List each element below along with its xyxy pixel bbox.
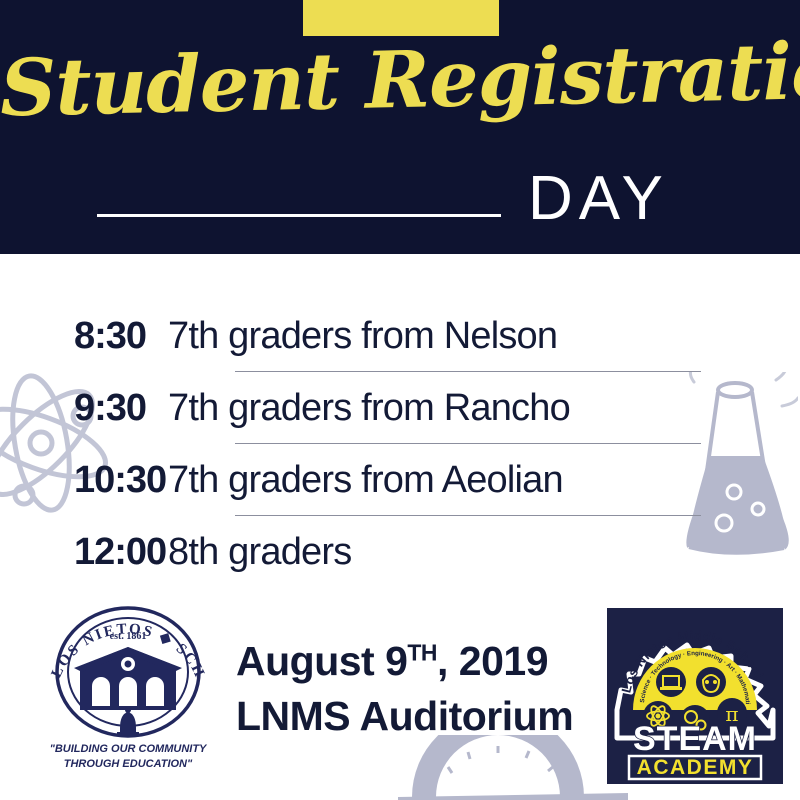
steam-academy-logo: Los Nietos Middle School Science · Techn… xyxy=(607,608,783,784)
page-title-day: DAY xyxy=(528,168,669,230)
seal-tagline-line2: THROUGH EDUCATION" xyxy=(36,757,220,772)
seal-established-text: est. 1861 xyxy=(110,631,147,642)
schedule-time: 9:30 xyxy=(0,387,168,430)
table-row: 8:30 7th graders from Nelson xyxy=(0,300,800,372)
schedule-description: 7th graders from Rancho xyxy=(168,387,570,430)
table-row: 10:30 7th graders from Aeolian xyxy=(0,444,800,516)
district-seal-logo: LOS NIETOS ◆ SCHOOL DISTRICT est. 1861 "… xyxy=(36,606,220,786)
header-yellow-tab xyxy=(303,0,499,36)
page-title: Student Registration xyxy=(0,34,800,129)
schedule-time: 12:00 xyxy=(0,531,168,574)
steam-wordmark: STEAM xyxy=(633,720,757,758)
seal-tagline-line1: "BUILDING OUR COMMUNITY xyxy=(36,742,220,757)
event-date-ordinal: TH xyxy=(407,639,437,665)
schedule-description: 7th graders from Aeolian xyxy=(168,459,563,502)
event-details: August 9TH, 2019 LNMS Auditorium xyxy=(236,634,573,743)
table-row: 9:30 7th graders from Rancho xyxy=(0,372,800,444)
event-location: LNMS Auditorium xyxy=(236,689,573,744)
event-date: August 9TH, 2019 xyxy=(236,634,573,689)
laptop-icon xyxy=(656,667,686,697)
seal-tagline: "BUILDING OUR COMMUNITY THROUGH EDUCATIO… xyxy=(36,742,220,772)
event-date-suffix: , 2019 xyxy=(437,638,548,684)
table-row: 12:00 8th graders xyxy=(0,516,800,588)
protractor-icon xyxy=(398,735,628,800)
title-divider-rule xyxy=(97,214,501,217)
schedule-list: 8:30 7th graders from Nelson 9:30 7th gr… xyxy=(0,300,800,588)
schedule-time: 8:30 xyxy=(0,315,168,358)
schedule-description: 8th graders xyxy=(168,531,351,574)
header-band: Student Registration DAY xyxy=(0,0,800,254)
poster-canvas: Student Registration DAY xyxy=(0,0,800,800)
academy-wordmark: ACADEMY xyxy=(637,756,754,779)
schedule-description: 7th graders from Nelson xyxy=(168,315,557,358)
schedule-time: 10:30 xyxy=(0,459,168,502)
event-date-prefix: August 9 xyxy=(236,638,407,684)
